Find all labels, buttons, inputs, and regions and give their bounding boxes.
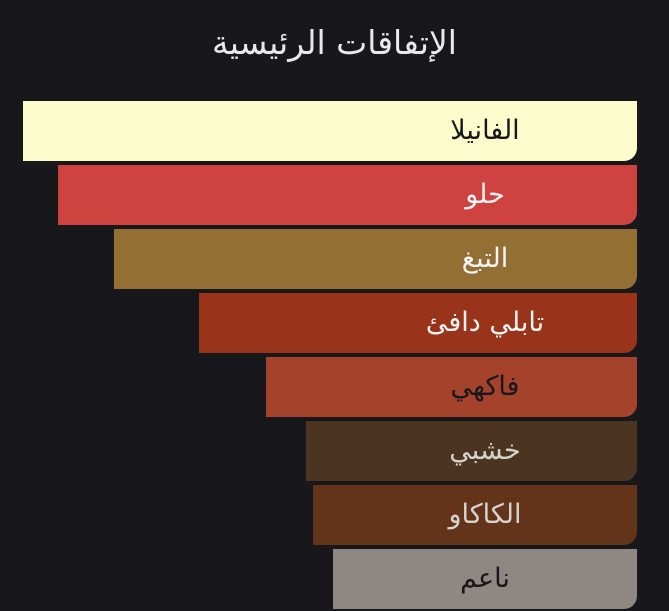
funnel-bar-label-7: الكاكاو bbox=[323, 485, 647, 545]
funnel-bar-4[interactable]: تابلي دافئ bbox=[199, 293, 637, 353]
funnel-bar-8[interactable]: ناعم bbox=[333, 549, 637, 609]
funnel-bar-3[interactable]: التبغ bbox=[114, 229, 637, 289]
funnel-bar-label-5: فاكهي bbox=[300, 357, 669, 417]
funnel-bars-container: الفانيلا حلو التبغ تابلي دافئ فاكهي خشبي… bbox=[0, 101, 669, 601]
funnel-bar-label-1: الفانيلا bbox=[178, 101, 669, 161]
funnel-bar-6[interactable]: خشبي bbox=[306, 421, 637, 481]
funnel-bar-2[interactable]: حلو bbox=[58, 165, 637, 225]
funnel-bar-label-8: ناعم bbox=[333, 549, 637, 609]
funnel-bar-label-6: خشبي bbox=[320, 421, 651, 481]
funnel-bar-5[interactable]: فاكهي bbox=[266, 357, 637, 417]
funnel-bar-7[interactable]: الكاكاو bbox=[313, 485, 637, 545]
funnel-bar-label-2: حلو bbox=[196, 165, 669, 225]
funnel-bar-1[interactable]: الفانيلا bbox=[23, 101, 637, 161]
funnel-bar-label-3: التبغ bbox=[224, 229, 669, 289]
funnel-bar-label-4: تابلي دافئ bbox=[266, 293, 669, 353]
chart-title: الإتفاقات الرئيسية bbox=[0, 21, 669, 65]
funnel-chart: الإتفاقات الرئيسية الفانيلا حلو التبغ تا… bbox=[0, 0, 669, 611]
